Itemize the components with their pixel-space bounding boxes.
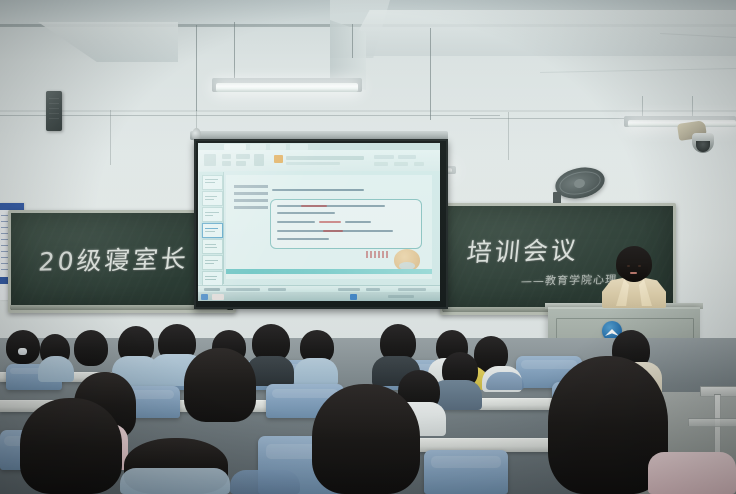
wall-speaker-icon: [46, 91, 62, 131]
audience-head: [74, 330, 108, 366]
slide-stamp: [366, 251, 390, 258]
audience-torso: [230, 470, 300, 494]
slide-thumbnail[interactable]: [202, 239, 223, 254]
slide-thumbnail[interactable]: [202, 255, 223, 270]
hanging-wire: [508, 112, 509, 160]
taskbar[interactable]: [198, 292, 440, 301]
audience-torso: [648, 452, 736, 494]
face-mask: [18, 348, 27, 355]
side-desk-lower: [688, 418, 736, 427]
ceiling-tube-light: [216, 83, 358, 92]
slide-thumbnail[interactable]: [202, 271, 223, 286]
audience-head-long-hair: [184, 348, 256, 422]
audience-head-long-hair-front: [20, 398, 122, 494]
dome-camera-icon: [678, 122, 714, 156]
hanging-wire: [234, 22, 235, 78]
hanging-wire: [110, 110, 111, 165]
presenter: [594, 246, 672, 308]
audience-torso: [120, 468, 230, 494]
wall-seam: [0, 115, 500, 116]
classroom-photo: 20级寝室长 培训会议 ——教育学院心理: [0, 0, 736, 494]
blackboard-left-text: 20级寝室长: [37, 239, 191, 278]
audience-torso: [38, 356, 74, 382]
slide-bullet-4: [272, 189, 364, 191]
presenter-hair: [616, 246, 652, 280]
hanging-wire: [196, 25, 197, 111]
presenter-coat: [602, 278, 666, 308]
slide-canvas[interactable]: [226, 175, 432, 279]
slide-mascot-icon: [394, 249, 420, 271]
audience-head-long-hair-front: [312, 384, 420, 494]
slide-thumbnail[interactable]: [202, 207, 223, 222]
audience-torso: [294, 358, 338, 386]
slide-thumbnail[interactable]: [202, 191, 223, 206]
hanging-wire: [430, 28, 431, 120]
slide-thumbnail-pane[interactable]: [199, 172, 224, 284]
projector-screen[interactable]: [198, 143, 440, 301]
seat[interactable]: [424, 450, 508, 494]
slide-vertical-title: [234, 185, 268, 213]
presenter-mouth: [630, 272, 637, 274]
wall-fan-icon: [551, 168, 607, 202]
slide-thumbnail[interactable]: [202, 175, 223, 190]
slide-thumbnail-selected[interactable]: [202, 223, 223, 238]
hanging-wire: [352, 24, 353, 58]
slide-text-box: [270, 199, 422, 249]
audience-shoulder-wrap: [486, 372, 524, 390]
slide-accent-bar: [226, 269, 432, 274]
audience-head: [6, 330, 40, 364]
app-ribbon[interactable]: [198, 150, 440, 172]
blackboard-right-text: 培训会议: [465, 231, 581, 269]
